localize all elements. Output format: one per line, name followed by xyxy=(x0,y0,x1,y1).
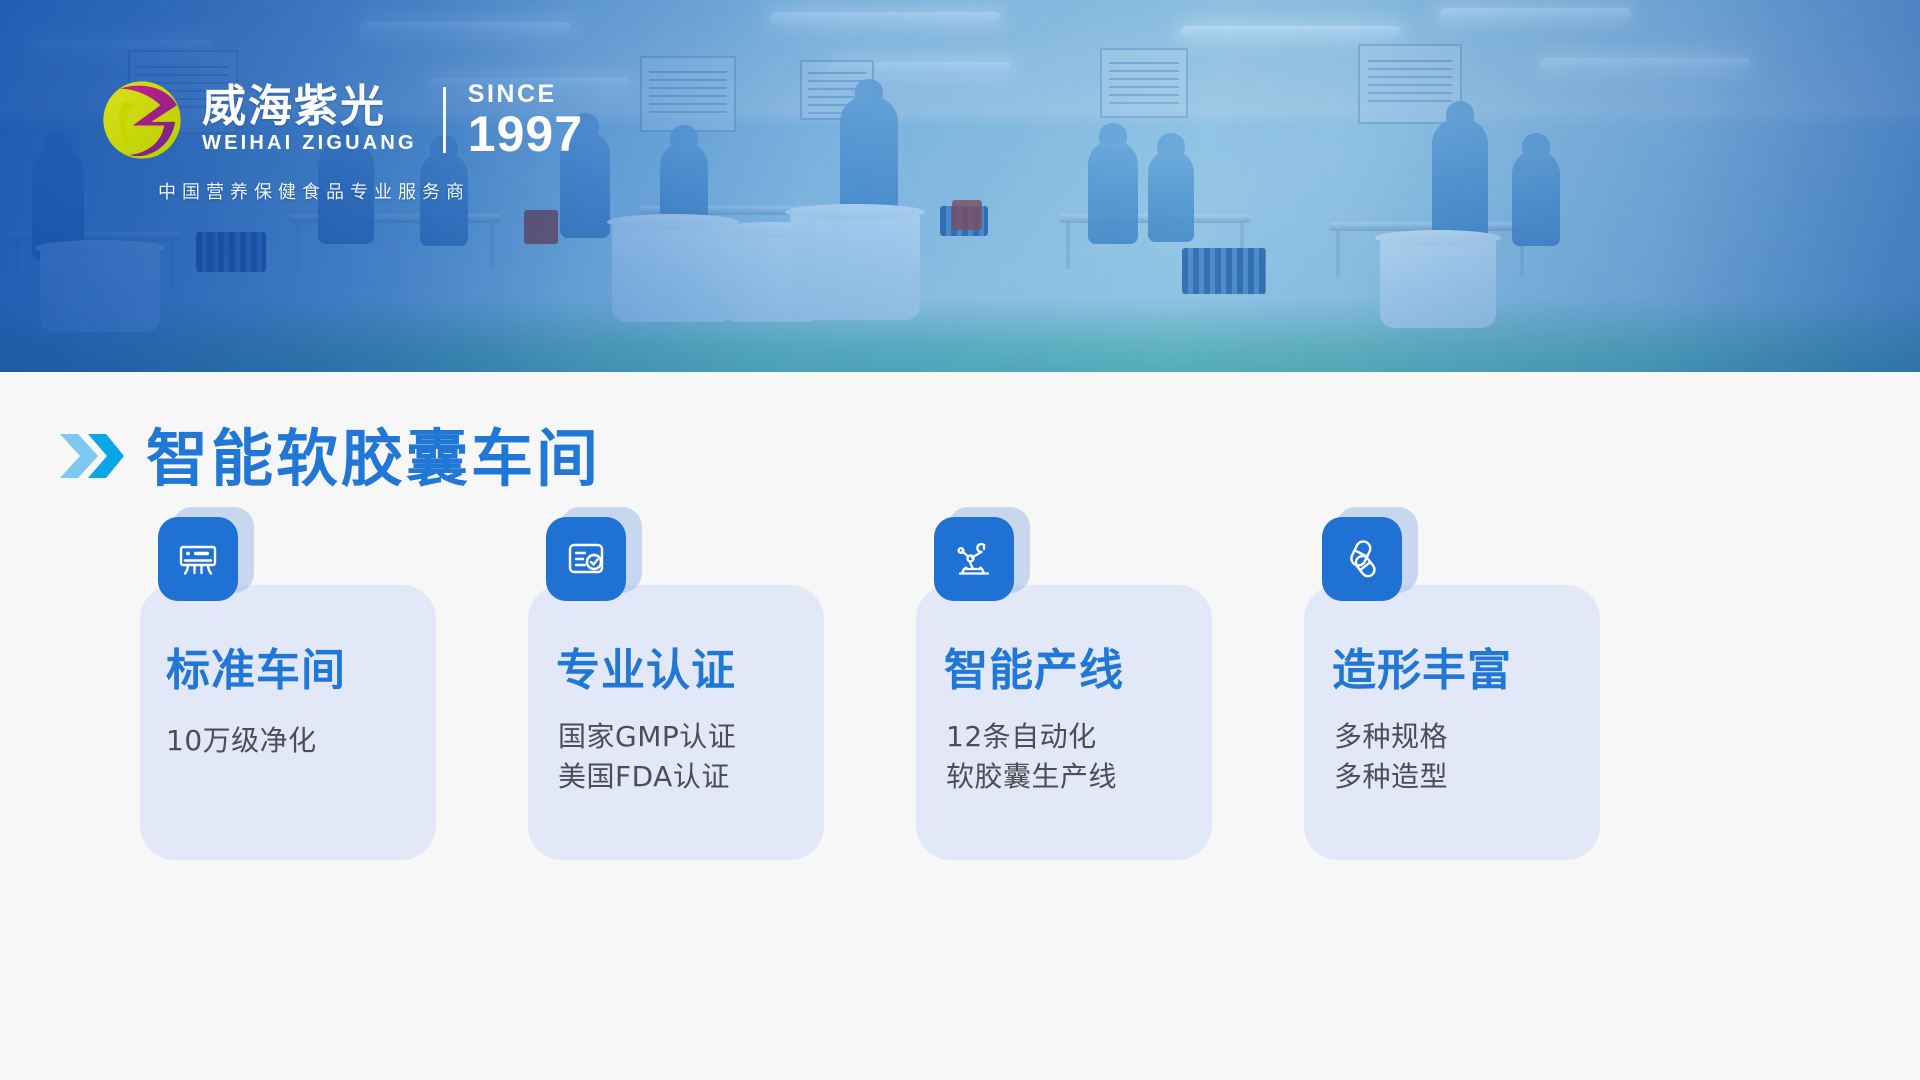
card-title: 标准车间 xyxy=(140,647,436,695)
card-icon-wrap xyxy=(1322,517,1414,609)
softgel-capsules-icon xyxy=(1322,517,1402,601)
feature-card-smart-production-line[interactable]: 智能产线 12条自动化 软胶囊生产线 xyxy=(916,585,1212,860)
hero-banner: 威海紫光 WEIHAI ZIGUANG SINCE 1997 中国营养保健食品专… xyxy=(0,0,1920,372)
card-icon-wrap xyxy=(934,517,1026,609)
feature-card-rich-shapes[interactable]: 造形丰富 多种规格 多种造型 xyxy=(1304,585,1600,860)
card-title: 智能产线 xyxy=(916,647,1212,695)
feature-card-standard-workshop[interactable]: 标准车间 10万级净化 xyxy=(140,585,436,860)
card-icon-wrap xyxy=(546,517,638,609)
logo-since-label: SINCE xyxy=(468,82,583,107)
robot-arm-icon xyxy=(934,517,1014,601)
logo-name-en: WEIHAI ZIGUANG xyxy=(202,132,417,155)
logo-name-cn: 威海紫光 xyxy=(202,85,417,130)
cleanroom-air-handling-unit-icon xyxy=(158,517,238,601)
logo-since-year: 1997 xyxy=(468,109,583,159)
card-lines: 12条自动化 软胶囊生产线 xyxy=(916,717,1212,797)
card-line: 软胶囊生产线 xyxy=(946,757,1212,797)
card-lines: 10万级净化 xyxy=(140,721,436,761)
card-title: 造形丰富 xyxy=(1304,647,1600,695)
double-chevron-right-icon xyxy=(58,428,124,484)
company-logo: 威海紫光 WEIHAI ZIGUANG SINCE 1997 中国营养保健食品专… xyxy=(96,74,583,204)
card-title: 专业认证 xyxy=(528,647,824,695)
card-line: 10万级净化 xyxy=(166,721,436,761)
card-line: 美国FDA认证 xyxy=(558,757,824,797)
card-line: 多种造型 xyxy=(1334,757,1600,797)
certificate-check-icon xyxy=(546,517,626,601)
card-lines: 国家GMP认证 美国FDA认证 xyxy=(528,717,824,797)
card-line: 12条自动化 xyxy=(946,717,1212,757)
page-title: 智能软胶囊车间 xyxy=(146,408,601,498)
card-line: 多种规格 xyxy=(1334,717,1600,757)
feature-card-list: 标准车间 10万级净化 专业认证 国家GMP认证 美国 xyxy=(140,585,1600,860)
feature-card-professional-certification[interactable]: 专业认证 国家GMP认证 美国FDA认证 xyxy=(528,585,824,860)
card-line: 国家GMP认证 xyxy=(558,717,824,757)
section-header: 智能软胶囊车间 xyxy=(58,408,601,498)
logo-tagline: 中国营养保健食品专业服务商 xyxy=(158,178,583,204)
logo-divider xyxy=(443,87,446,153)
ziguang-z-circle-logo-icon xyxy=(96,74,188,166)
card-lines: 多种规格 多种造型 xyxy=(1304,717,1600,797)
card-icon-wrap xyxy=(158,517,250,609)
